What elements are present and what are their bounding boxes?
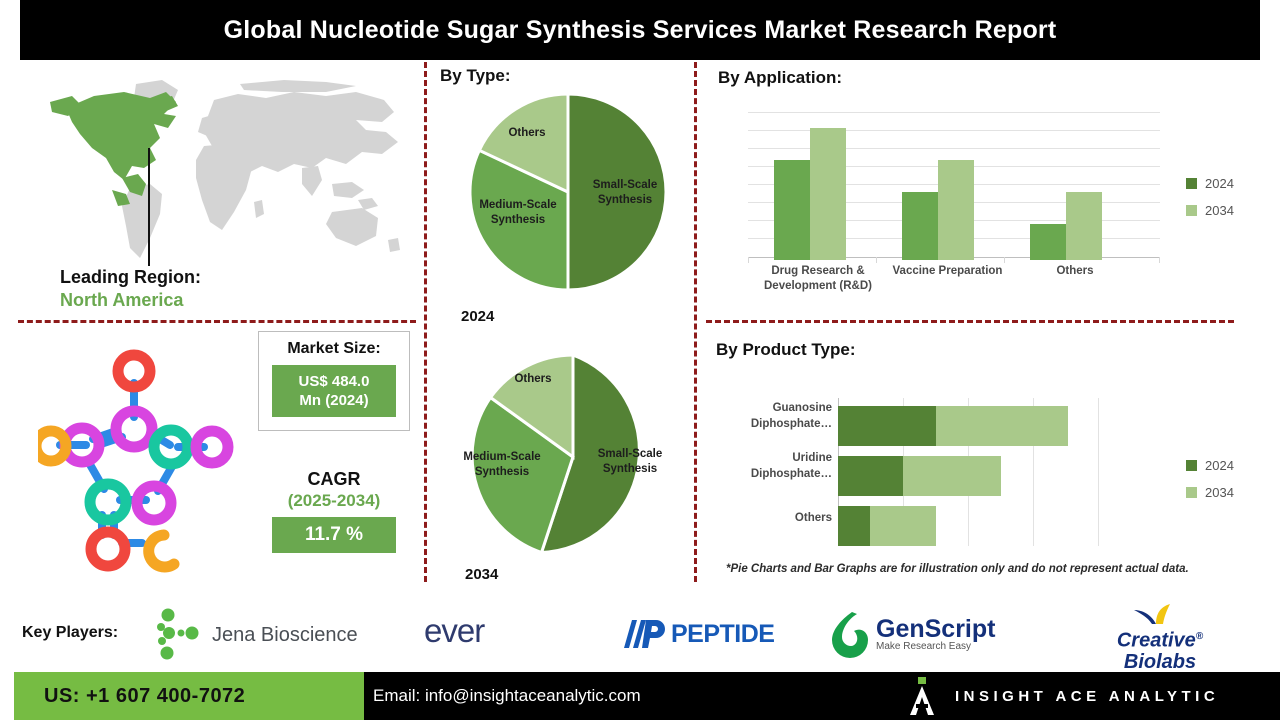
page-title: Global Nucleotide Sugar Synthesis Servic… <box>224 16 1057 45</box>
cagr-value: 11.7 % <box>272 517 396 553</box>
footer: US: +1 607 400-7072 Email: info@insighta… <box>0 672 1280 720</box>
key-players-label: Key Players: <box>22 624 118 642</box>
product-type-chart-legend: 2024 2034 <box>1186 458 1234 512</box>
logo-creative-biolabs[interactable]: Creative® Biolabs <box>1090 604 1270 673</box>
gridline <box>1098 398 1099 546</box>
legend-label-2034: 2034 <box>1205 485 1234 500</box>
axis-tick <box>1159 257 1160 263</box>
hbar-others-2034 <box>870 506 936 546</box>
footer-black-block: Email: info@insightaceanalytic.com INSIG… <box>364 672 1280 720</box>
hbar-uridine-2034 <box>903 456 1001 496</box>
footer-phone-block: US: +1 607 400-7072 <box>14 672 364 720</box>
divider-vertical-left <box>424 62 427 582</box>
logo-eversyn-text-part2: syn <box>484 612 532 649</box>
footer-phone[interactable]: US: +1 607 400-7072 <box>44 685 245 708</box>
peptide-logo-icon <box>622 618 666 650</box>
logo-eversyn-text: eversyn <box>424 612 533 650</box>
category-label-others: Others <box>1020 264 1130 279</box>
logo-peptide[interactable]: PEPTIDE <box>622 618 774 650</box>
hbar-uridine-2024 <box>838 456 903 496</box>
cagr-caption: CAGR <box>258 468 410 490</box>
hbar-category-label-guanosine: Guanosine Diphosphate… <box>714 400 832 432</box>
hbar-guanosine-2034 <box>936 406 1068 446</box>
legend-label-2034: 2034 <box>1205 203 1234 218</box>
leading-region-block: Leading Region: North America <box>60 266 360 312</box>
hbar-others-2024 <box>838 506 870 546</box>
legend-item-2034: 2034 <box>1186 203 1234 218</box>
world-map <box>26 72 411 272</box>
category-label-others-text: Others <box>1056 265 1093 277</box>
jena-bioscience-logo-icon <box>150 608 204 662</box>
market-size-value-line2: Mn (2024) <box>299 391 368 410</box>
market-size-value: US$ 484.0 Mn (2024) <box>272 365 396 417</box>
pie-chart-2034 <box>468 352 678 562</box>
gridline <box>748 112 1160 113</box>
footer-email[interactable]: Email: info@insightaceanalytic.com <box>373 686 641 706</box>
logo-genscript-tagline: Make Research Easy <box>876 641 995 652</box>
section-heading-by-type: By Type: <box>440 66 511 86</box>
cagr-card: CAGR (2025-2034) 11.7 % <box>258 468 410 553</box>
legend-swatch-2024 <box>1186 460 1197 471</box>
logo-peptide-text: PEPTIDE <box>671 620 774 649</box>
world-map-icon <box>26 72 411 272</box>
genscript-logo-icon <box>830 610 872 658</box>
product-type-bar-chart <box>838 398 1100 546</box>
leading-region-value: North America <box>60 288 360 312</box>
logo-eversyn-text-part1: ever <box>424 612 484 649</box>
bar-vaccine-2034 <box>938 160 974 260</box>
molecule-graphic <box>38 345 238 575</box>
section-heading-by-application: By Application: <box>718 68 842 88</box>
pie-chart-2024 <box>468 92 668 292</box>
footer-brand: INSIGHT ACE ANALYTIC <box>909 677 1219 715</box>
market-size-card: Market Size: US$ 484.0 Mn (2024) <box>258 331 410 431</box>
hbar-category-label-others-text: Others <box>795 512 832 524</box>
hbar-category-label-others: Others <box>714 510 832 526</box>
hbar-category-label-guanosine-text: Guanosine Diphosphate… <box>751 402 832 430</box>
legend-item-2024: 2024 <box>1186 458 1234 473</box>
chart-disclaimer: *Pie Charts and Bar Graphs are for illus… <box>726 563 1189 575</box>
map-leader-line <box>148 148 150 266</box>
pie-chart-2024-svg <box>468 92 668 292</box>
axis-tick <box>748 257 749 263</box>
divider-horizontal-right <box>706 320 1234 323</box>
bar-drug-rd-2024 <box>774 160 810 260</box>
hbar-guanosine-2024 <box>838 406 936 446</box>
market-size-caption: Market Size: <box>287 340 380 358</box>
logo-genscript[interactable]: GenScript Make Research Easy <box>830 610 995 658</box>
page-title-bar: Global Nucleotide Sugar Synthesis Servic… <box>20 0 1260 60</box>
legend-item-2034: 2034 <box>1186 485 1234 500</box>
bar-vaccine-2024 <box>902 192 938 260</box>
category-label-drug-rd-text: Drug Research & Development (R&D) <box>764 265 872 292</box>
legend-swatch-2024 <box>1186 178 1197 189</box>
logo-jena-bioscience[interactable]: Jena Bioscience <box>150 608 358 662</box>
category-label-drug-rd: Drug Research & Development (R&D) <box>744 264 892 294</box>
insight-ace-a-mark-icon <box>909 677 935 715</box>
logo-genscript-text: GenScript <box>876 617 995 641</box>
creative-biolabs-leaf-icon <box>1130 604 1270 626</box>
legend-swatch-2034 <box>1186 205 1197 216</box>
hbar-category-label-uridine: Uridine Diphosphate… <box>714 450 832 482</box>
legend-item-2024: 2024 <box>1186 176 1234 191</box>
pie-chart-2034-svg <box>468 352 678 562</box>
cagr-period: (2025-2034) <box>258 490 410 512</box>
legend-label-2024: 2024 <box>1205 176 1234 191</box>
axis-tick <box>876 257 877 263</box>
legend-swatch-2034 <box>1186 487 1197 498</box>
bar-drug-rd-2034 <box>810 128 846 260</box>
bar-others-2034 <box>1066 192 1102 260</box>
bar-others-2024 <box>1030 224 1066 260</box>
section-heading-by-product-type: By Product Type: <box>716 340 855 360</box>
legend-label-2024: 2024 <box>1205 458 1234 473</box>
pie-2034-year: 2034 <box>465 566 498 583</box>
nucleotide-molecule-icon <box>38 345 238 575</box>
registered-mark-icon: ® <box>1196 631 1203 642</box>
pie-2024-year: 2024 <box>461 308 494 325</box>
infographic-page: Global Nucleotide Sugar Synthesis Servic… <box>0 0 1280 720</box>
key-players-strip: Key Players: Jena Bioscience eversyn <box>0 596 1280 672</box>
application-chart-legend: 2024 2034 <box>1186 176 1234 230</box>
leading-region-label: Leading Region: <box>60 266 360 288</box>
logo-jena-bioscience-text: Jena Bioscience <box>212 624 358 647</box>
hbar-category-label-uridine-text: Uridine Diphosphate… <box>751 452 832 480</box>
logo-creative-biolabs-line2: Biolabs <box>1124 651 1196 673</box>
logo-creative-biolabs-line1: Creative <box>1117 630 1196 652</box>
divider-vertical-right <box>694 62 697 582</box>
logo-creative-biolabs-text: Creative® Biolabs <box>1090 626 1230 673</box>
axis-tick <box>1004 257 1005 263</box>
application-bar-chart <box>748 112 1160 260</box>
category-label-vaccine-text: Vaccine Preparation <box>893 265 1003 277</box>
divider-horizontal-left <box>18 320 416 323</box>
footer-brand-name: INSIGHT ACE ANALYTIC <box>955 688 1219 705</box>
category-label-vaccine: Vaccine Preparation <box>890 264 1005 279</box>
market-size-value-line1: US$ 484.0 <box>299 372 370 391</box>
